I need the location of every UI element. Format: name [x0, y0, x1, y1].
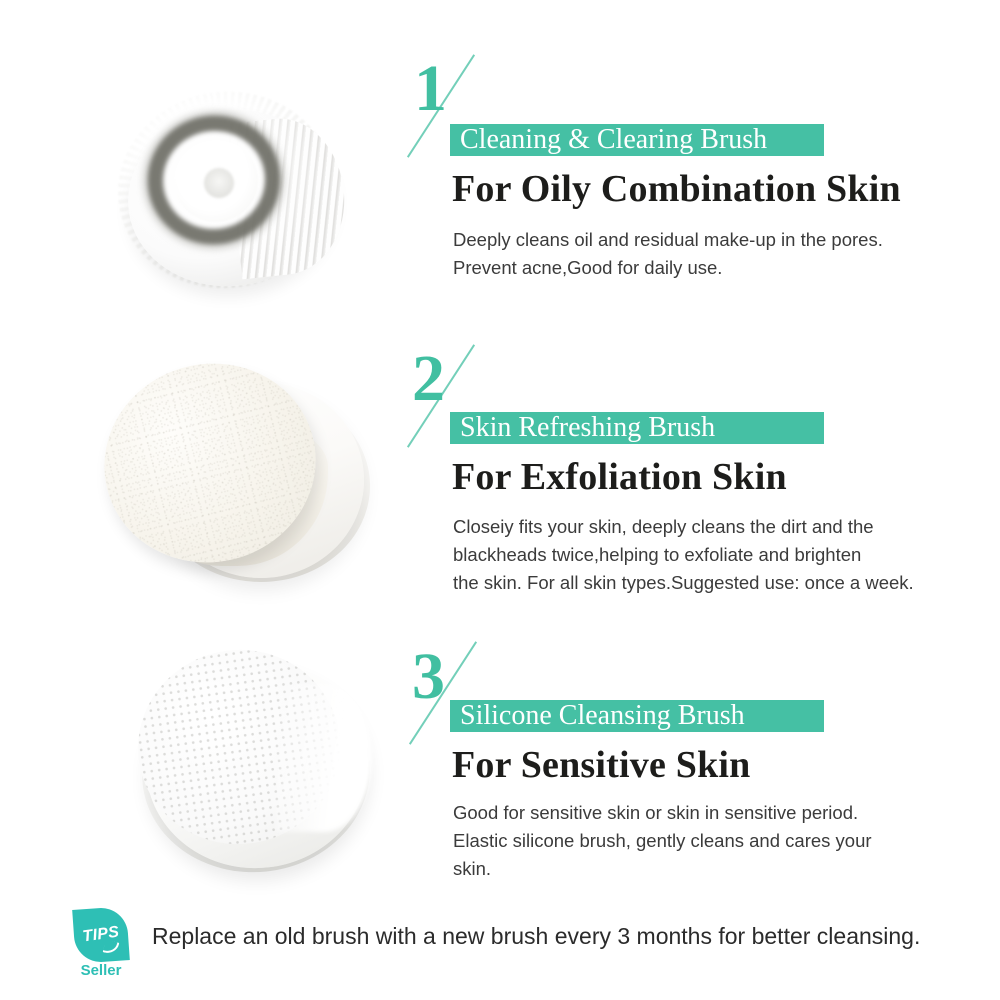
section-number-1: 1: [414, 56, 446, 122]
silicone-highlight: [276, 684, 372, 832]
section-label-bar-2: Skin Refreshing Brush: [450, 412, 824, 444]
section-label-bar-1: Cleaning & Clearing Brush: [450, 124, 824, 156]
section-label-bar-3: Silicone Cleansing Brush: [450, 700, 824, 732]
section-number-3: 3: [412, 644, 444, 710]
section-body-3: Good for sensitive skin or skin in sensi…: [453, 799, 872, 883]
section-headline-1: For Oily Combination Skin: [452, 168, 901, 210]
body-line: Deeply cleans oil and residual make-up i…: [453, 226, 883, 254]
tips-seller-badge: TIPS Seller: [70, 908, 132, 982]
body-line: the skin. For all skin types.Suggested u…: [453, 569, 914, 597]
product-image-bristle-brush-head: [112, 72, 350, 298]
section-headline-3: For Sensitive Skin: [452, 744, 751, 786]
body-line: Closeiy fits your skin, deeply cleans th…: [453, 513, 914, 541]
infographic-page: 1 Cleaning & Clearing Brush For Oily Com…: [0, 0, 1000, 1000]
product-image-sponge-exfoliating-head: [86, 360, 386, 610]
section-number-2: 2: [412, 346, 444, 412]
section-body-1: Deeply cleans oil and residual make-up i…: [453, 226, 883, 282]
section-body-2: Closeiy fits your skin, deeply cleans th…: [453, 513, 914, 597]
body-line: Good for sensitive skin or skin in sensi…: [453, 799, 872, 827]
section-headline-2: For Exfoliation Skin: [452, 456, 787, 498]
badge-tips-label: TIPS: [71, 905, 132, 966]
product-image-silicone-brush-head: [132, 642, 380, 888]
badge-seller-label: Seller: [70, 962, 132, 979]
body-line: skin.: [453, 855, 872, 883]
body-line: Elastic silicone brush, gently cleans an…: [453, 827, 872, 855]
body-line: Prevent acne,Good for daily use.: [453, 254, 883, 282]
brush-center-hole: [204, 168, 234, 198]
footer-note: Replace an old brush with a new brush ev…: [152, 921, 920, 951]
body-line: blackheads twice,helping to exfoliate an…: [453, 541, 914, 569]
